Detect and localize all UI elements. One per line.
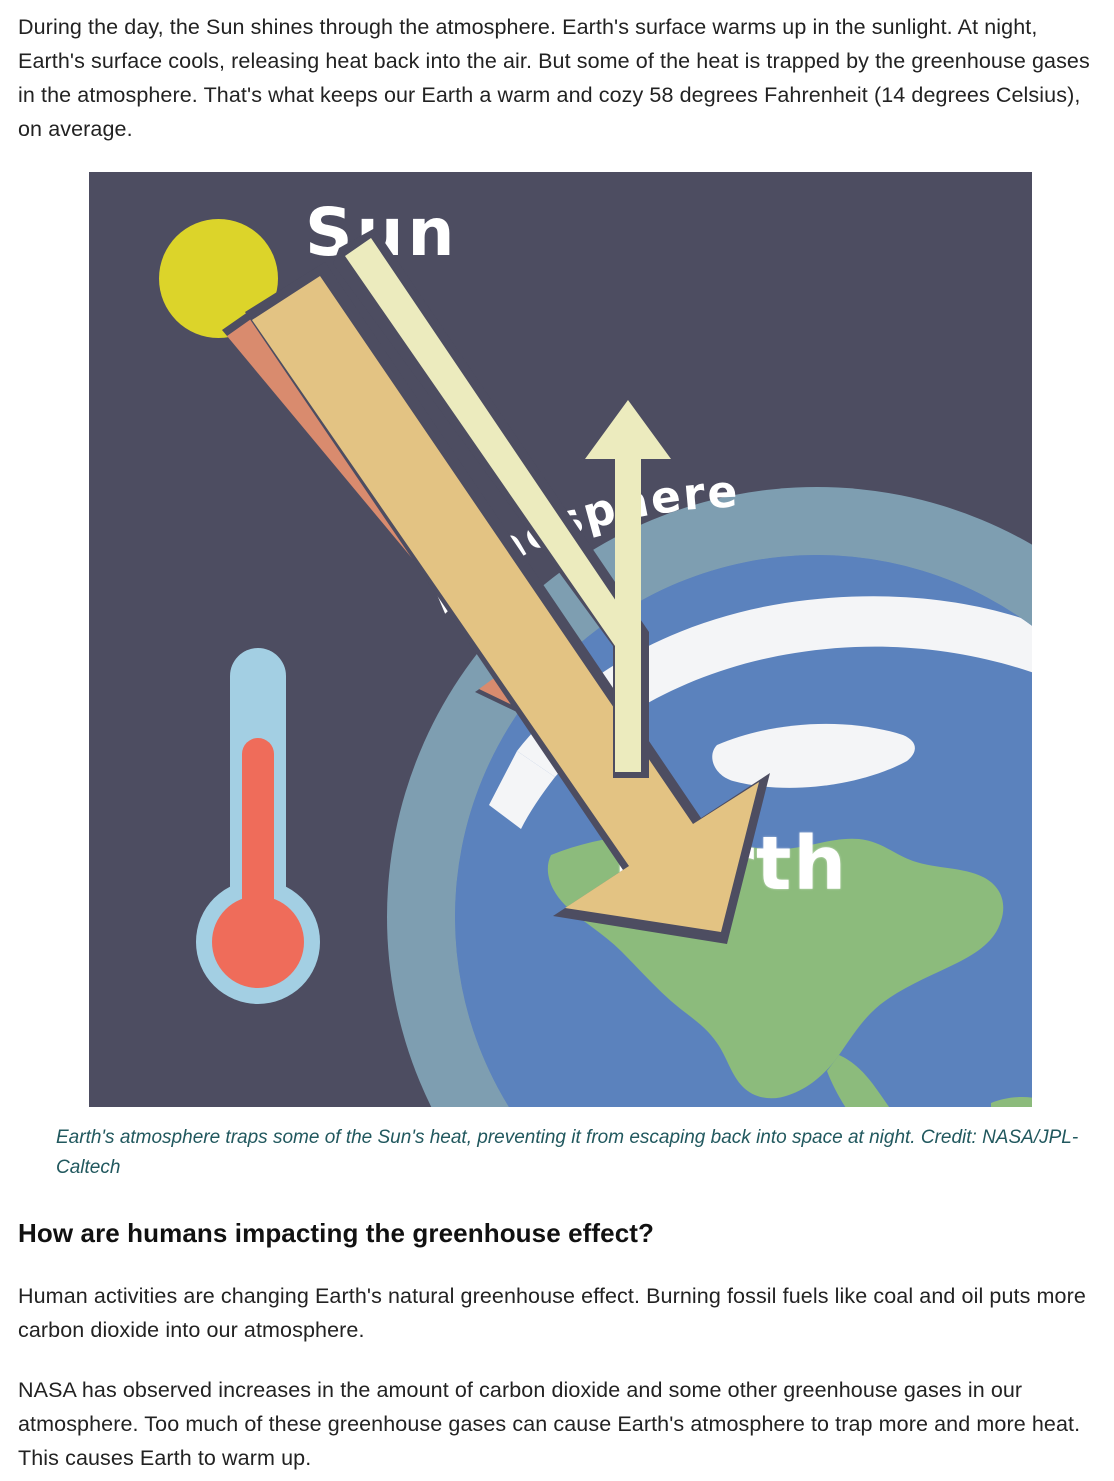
intro-paragraph: During the day, the Sun shines through t… xyxy=(18,10,1096,146)
greenhouse-effect-illustration: Atmosphere Sun Earth xyxy=(89,172,1032,1107)
nasa-observation-paragraph: NASA has observed increases in the amoun… xyxy=(18,1373,1096,1475)
figure-caption: Earth's atmosphere traps some of the Sun… xyxy=(56,1123,1096,1183)
greenhouse-effect-figure: Atmosphere Sun Earth xyxy=(18,172,1096,1183)
section-heading: How are humans impacting the greenhouse … xyxy=(18,1217,1096,1249)
human-impact-paragraph: Human activities are changing Earth's na… xyxy=(18,1279,1096,1347)
article-page: During the day, the Sun shines through t… xyxy=(0,10,1114,1475)
thermometer-icon xyxy=(194,642,324,1012)
